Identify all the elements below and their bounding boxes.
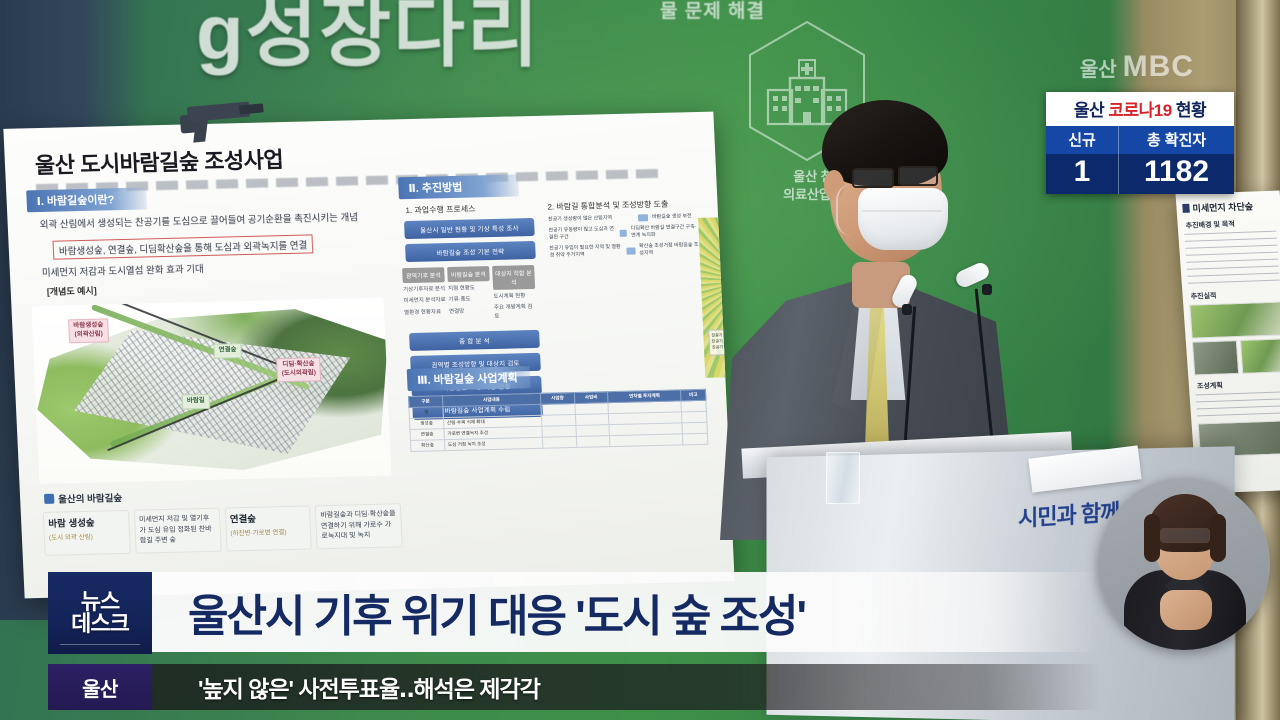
section-2-heading: Ⅱ. 추진방법: [398, 174, 519, 199]
interpreter-eyeglasses-icon: [1160, 528, 1210, 543]
map-label: 2. 바람길 통합분석 및 조성방향 도출: [547, 198, 699, 213]
board2-text-lines-2: [1196, 391, 1280, 420]
table-cell: 도심 거점 녹지 조성: [444, 437, 543, 450]
program-logo-text: 뉴스데스크: [71, 591, 129, 636]
interpreter-hair-right: [1210, 514, 1226, 562]
ticker-text: '높지 않은' 사전투표율‥해석은 제각각: [198, 670, 540, 704]
ulsan-wind-forest-label: 울산의 바람길숲: [44, 483, 401, 506]
table-cell: 확산숲: [410, 440, 444, 452]
table-header-cell: 구분: [408, 396, 442, 408]
gis-note: 찬공기 유입이 필요한 지역 및 열환경 취약 주거지역확산숲 조성거점 바람길…: [549, 241, 702, 260]
table-cell: [541, 414, 575, 426]
channel-watermark: 울산MBC: [1080, 50, 1194, 84]
flow-step: 종 합 분 석: [409, 330, 540, 351]
forest-card: 미세먼지 저감 및 열기후가 도심 유입 정화된 찬바람길 주변 숲: [134, 508, 222, 554]
corona-value-total: 1182: [1118, 154, 1234, 194]
headline-banner: 울산시 기후 위기 대응 '도시 숲 조성': [152, 572, 1100, 652]
forest-card: 연결숲(하천변·가로변 연결): [224, 505, 312, 551]
corona-title-region: 울산: [1074, 101, 1104, 120]
watermark-network: MBC: [1123, 50, 1194, 83]
corona-value-new: 1: [1046, 154, 1118, 194]
project-plan-table: 구분 사업내용 사업량 사업비 연차별 투자계획 비고 계: [408, 389, 709, 452]
flow-branch-row: 광역기후 분석 기상기후자료 분석 미세먼지 분석자료 열환경 현황자료 바람길…: [402, 265, 542, 323]
face-mask-strap: [836, 184, 864, 236]
table-cell: [576, 425, 610, 437]
face-mask-fold: [862, 210, 942, 212]
corona-title: 울산 코로나19 현황: [1046, 92, 1234, 126]
board2-photo-2: [1192, 340, 1239, 375]
section-1-bullet-2: 미세먼지 저감과 도시열섬 완화 효과 기대: [42, 256, 391, 278]
region-badge-text: 울산: [82, 673, 118, 702]
board2-title: 미세먼지 차단숲: [1182, 199, 1275, 215]
board-section-1: Ⅰ. 바람길숲이란? 외곽 산림에서 생성되는 찬공기를 도심으로 끌어들여 공…: [26, 182, 403, 556]
eyeglasses-icon-right: [898, 166, 938, 186]
forest-card: 바람길숲과 디딤·확산숲을 연결하기 위해 가로수 가로녹지대 및 녹지: [315, 503, 403, 549]
corona-stats-box: 울산 코로나19 현황 신규 총 확진자 1 1182: [1046, 92, 1234, 194]
table-cell: 연결숲: [410, 429, 444, 441]
table-cell: [542, 436, 576, 448]
table-cell: [576, 436, 610, 448]
table-cell: [542, 425, 576, 437]
flow-step: 울산시 일반 현황 및 기상 특성 조사: [404, 218, 535, 239]
camera-icon: [176, 94, 267, 142]
flow-label: 1. 과업수행 프로세스: [405, 202, 537, 216]
sign-language-interpreter-inset: [1098, 478, 1270, 650]
board2-sub-3: 조성계획: [1197, 378, 1280, 391]
section-1-tag: [개념도 예시]: [46, 276, 391, 297]
corona-title-keyword: 코로나19: [1108, 101, 1171, 120]
board2-photo-row: [1192, 338, 1280, 375]
table-header-cell: 사업비: [574, 392, 608, 404]
board2-photo-1: [1189, 301, 1280, 338]
interpreter-hands: [1160, 590, 1212, 630]
section-1-bullet-0: 외곽 산림에서 생성되는 찬공기를 도심으로 끌어들여 공기순환을 촉진시키는 …: [39, 209, 388, 231]
table-cell: [683, 433, 708, 445]
presentation-board-main: 울산 도시바람길숲 조성사업 Ⅰ. 바람길숲이란? 외곽 산림에서 생성되는 찬…: [3, 112, 734, 599]
table-cell: 생성숲: [409, 418, 443, 430]
corona-value-row: 1 1182: [1046, 154, 1234, 194]
section-1-heading: Ⅰ. 바람길숲이란?: [26, 187, 147, 212]
board2-sub-2: 추진실적: [1190, 289, 1280, 302]
region-badge: 울산: [48, 664, 152, 710]
flow-step: 바람길숲 조성 기본 전략: [405, 241, 536, 262]
iso-callout-0: 바람생성숲(외곽산림): [68, 318, 109, 342]
headline-text: 울산시 기후 위기 대응 '도시 숲 조성': [188, 580, 805, 644]
iso-callout-2: 디딤·확산숲(도시외곽림): [276, 357, 321, 382]
gis-note: 찬공기 생성량이 많은 산림지역바람길숲 생성 보전: [548, 213, 700, 224]
board-section-3: Ⅲ. 바람길숲 사업계획 구분 사업내용 사업량 사업비 연차별 투자계획 비고: [407, 362, 711, 452]
iso-callout-1: 연결숲: [213, 343, 242, 358]
gis-note: 찬공기 유동량이 많고 도심과 연결된 구간디딤확산 바람길 연결구간 구축·연…: [548, 223, 701, 242]
board2-sub-1: 추진배경 및 목적: [1185, 218, 1276, 231]
board2-photo-3: [1239, 338, 1280, 373]
table-header-cell: 비고: [681, 389, 706, 401]
interpreter-hair-left: [1144, 514, 1160, 562]
flow-branch: 대상지 적합 분석 도시계획 현황 주요 개발계획 검토: [492, 265, 536, 321]
table-cell: 계: [409, 407, 443, 419]
watermark-region: 울산: [1080, 59, 1117, 81]
broadcast-frame: g성장다리 물 문제 해결 울산 첨단 의료산업기반: [0, 0, 1280, 720]
corona-title-suffix: 현황: [1176, 101, 1206, 120]
water-glass: [826, 452, 860, 504]
news-ticker-bar: '높지 않은' 사전투표율‥해석은 제각각: [152, 664, 1100, 710]
program-logo: 뉴스데스크: [48, 572, 152, 654]
table-cell: [610, 434, 683, 447]
gis-notes: 찬공기 생성량이 많은 산림지역바람길숲 생성 보전 찬공기 유동량이 많고 도…: [548, 213, 702, 260]
face-mask: [858, 188, 948, 250]
table-header-cell: 사업량: [540, 392, 574, 404]
wall-headline-text: g성장다리: [196, 0, 541, 82]
table-cell: [682, 411, 707, 423]
flow-branch: 바람길숲 분석 지형 현황도 기류·풍도 연결망: [447, 266, 491, 322]
table-cell: [682, 422, 707, 434]
corona-label-row: 신규 총 확진자: [1046, 126, 1234, 154]
flow-branch: 광역기후 분석 기상기후자료 분석 미세먼지 분석자료 열환경 현황자료: [402, 267, 446, 323]
board2-text-lines: [1184, 231, 1280, 286]
program-logo-rule: [60, 644, 140, 646]
forest-card-row: 바람 생성숲(도시 외곽 산림) 미세먼지 저감 및 열기후가 도심 유입 정화…: [43, 503, 403, 555]
bullet-square-icon: [44, 494, 54, 504]
table-cell: [575, 403, 609, 415]
isometric-city-diagram: 바람생성숲(외곽산림) 연결숲 디딤·확산숲(도시외곽림) 바람길: [31, 298, 391, 484]
table-cell: [575, 414, 609, 426]
corona-label-new: 신규: [1046, 126, 1118, 154]
section-1-bullet-1: 바람생성숲, 연결숲, 디딤확산숲을 통해 도심과 외곽녹지를 연결: [52, 234, 313, 259]
corona-label-total: 총 확진자: [1118, 126, 1234, 154]
section-3-heading: Ⅲ. 바람길숲 사업계획: [407, 366, 531, 391]
board2-title-marker: [1182, 204, 1190, 213]
table-cell: [541, 403, 575, 415]
table-cell: [681, 400, 706, 412]
forest-card: 바람 생성숲(도시 외곽 산림): [43, 510, 131, 556]
iso-callout-3: 바람길: [182, 394, 211, 409]
